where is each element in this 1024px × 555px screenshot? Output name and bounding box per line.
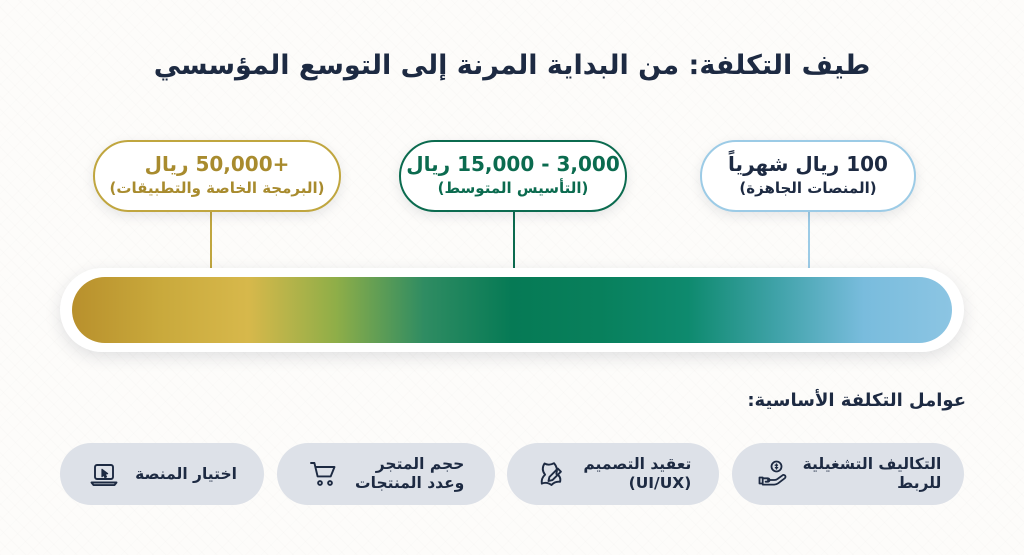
infographic-stage: طيف التكلفة: من البداية المرنة إلى التوس… xyxy=(0,0,1024,555)
factor-chip-label: تعقيد التصميم (UI/UX) xyxy=(583,455,691,493)
factor-chip-line2: للربط xyxy=(803,474,942,493)
tier-amount: +50,000 ريال xyxy=(145,152,290,176)
factor-chip-label: حجم المتجر وعدد المنتجات xyxy=(355,455,464,493)
factor-chip-integration-running-costs[interactable]: التكاليف التشغيلية للربط xyxy=(732,443,964,505)
tier-amount: 3,000 - 15,000 ريال xyxy=(406,152,620,176)
factor-chip-line1: تعقيد التصميم xyxy=(583,455,691,473)
factor-chip-platform-choice[interactable]: اختيار المنصة xyxy=(60,443,264,505)
tier-card-ready-platforms[interactable]: 100 ريال شهرياً (المنصات الجاهزة) xyxy=(700,140,916,212)
pen-edit-icon xyxy=(535,457,569,491)
cost-factors-heading: عوامل التكلفة الأساسية: xyxy=(747,390,966,411)
factor-chip-line2: وعدد المنتجات xyxy=(355,474,464,493)
tier-amount: 100 ريال شهرياً xyxy=(728,152,888,176)
tier-description: (البرمجة الخاصة والتطبيقات) xyxy=(110,179,325,198)
cost-spectrum-gradient xyxy=(72,277,952,343)
cost-factors-list: اختيار المنصة حجم المتجر وعدد المنتجات xyxy=(60,443,964,505)
tier-card-custom-development[interactable]: +50,000 ريال (البرمجة الخاصة والتطبيقات) xyxy=(93,140,341,212)
tier-description: (التأسيس المتوسط) xyxy=(438,179,589,198)
tier-card-mid-foundation[interactable]: 3,000 - 15,000 ريال (التأسيس المتوسط) xyxy=(399,140,627,212)
factor-chip-line1: حجم المتجر xyxy=(376,455,465,473)
tier-description: (المنصات الجاهزة) xyxy=(739,179,876,198)
factor-chip-line2: (UI/UX) xyxy=(583,474,691,493)
factor-chip-line1: اختيار المنصة xyxy=(135,465,237,483)
factor-chip-line1: التكاليف التشغيلية xyxy=(803,455,942,473)
factor-chip-design-complexity[interactable]: تعقيد التصميم (UI/UX) xyxy=(507,443,719,505)
hand-coin-icon xyxy=(755,457,789,491)
laptop-cursor-icon xyxy=(87,457,121,491)
page-title: طيف التكلفة: من البداية المرنة إلى التوس… xyxy=(0,48,1024,84)
factor-chip-label: التكاليف التشغيلية للربط xyxy=(803,455,942,493)
factor-chip-store-size[interactable]: حجم المتجر وعدد المنتجات xyxy=(277,443,495,505)
cost-spectrum-bar xyxy=(60,268,964,352)
factor-chip-label: اختيار المنصة xyxy=(135,465,237,484)
shopping-cart-icon xyxy=(307,457,341,491)
